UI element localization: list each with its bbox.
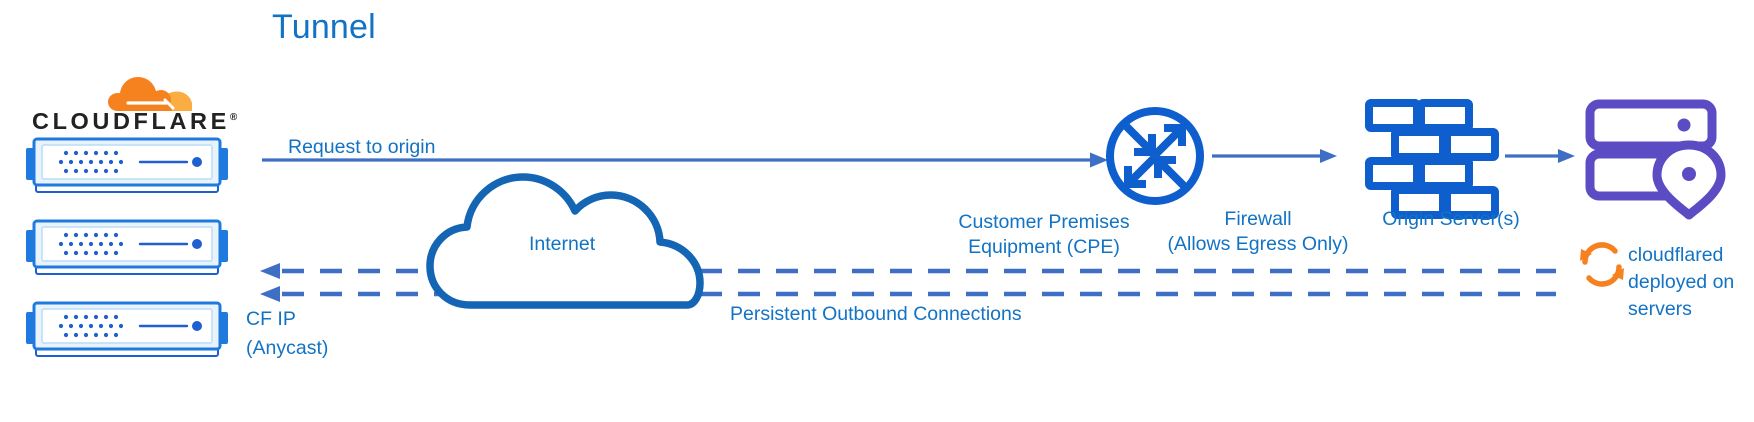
rack-server-icon — [22, 218, 232, 280]
edge-server-1[interactable] — [22, 136, 232, 198]
cpe-label-line1: Customer Premises — [944, 210, 1144, 235]
edge-server-2[interactable] — [22, 218, 232, 280]
cf-ip-label-line1: CF IP — [246, 305, 396, 334]
request-to-origin-label: Request to origin — [288, 135, 435, 160]
cloudflared-note-line3: servers — [1628, 296, 1750, 323]
arrow-right-icon — [1090, 153, 1108, 168]
cloudflared-note-line2: deployed on — [1628, 269, 1750, 296]
sync-arrows-icon — [1580, 245, 1624, 284]
firewall-to-origin-connector — [1505, 149, 1575, 163]
brick-wall-icon[interactable] — [1369, 103, 1495, 215]
arrow-left-icon — [260, 286, 280, 302]
internet-label: Internet — [529, 232, 595, 257]
arrow-left-icon — [260, 263, 280, 279]
cloudflare-logo: CLOUDFLARE® — [32, 70, 228, 138]
edge-server-3[interactable] — [22, 300, 232, 362]
arrow-right-icon — [1320, 149, 1337, 163]
firewall-label: Firewall (Allows Egress Only) — [1158, 207, 1358, 257]
origin-server-label: Origin Server(s) — [1365, 207, 1537, 232]
server-location-pin-icon[interactable] — [1590, 104, 1721, 215]
rack-server-icon — [22, 300, 232, 362]
cloudflare-trademark: ® — [230, 112, 237, 123]
persistent-outbound-connector — [260, 263, 1556, 302]
cloudflare-wordmark: CLOUDFLARE® — [32, 108, 228, 135]
tunnel-diagram-canvas: Tunnel CLOUDFLARE® — [0, 0, 1754, 422]
rack-server-icon — [22, 136, 232, 198]
page-title: Tunnel — [272, 8, 376, 47]
firewall-label-line2: (Allows Egress Only) — [1158, 232, 1358, 257]
cpe-to-firewall-connector — [1212, 149, 1337, 163]
cloudflare-wordmark-text: CLOUDFLARE — [32, 108, 230, 134]
cpe-label-line2: Equipment (CPE) — [944, 235, 1144, 260]
cf-ip-label-line2: (Anycast) — [246, 334, 396, 363]
arrow-right-icon — [1558, 149, 1575, 163]
cloudflared-note: cloudflared deployed on servers — [1628, 242, 1750, 323]
router-circle-arrows-icon[interactable] — [1110, 111, 1200, 201]
persistent-outbound-connections-label: Persistent Outbound Connections — [730, 302, 1022, 327]
cloudflared-note-line1: cloudflared — [1628, 242, 1750, 269]
firewall-label-line1: Firewall — [1158, 207, 1358, 232]
cpe-label: Customer Premises Equipment (CPE) — [944, 210, 1144, 260]
cf-ip-label: CF IP (Anycast) — [246, 305, 396, 363]
